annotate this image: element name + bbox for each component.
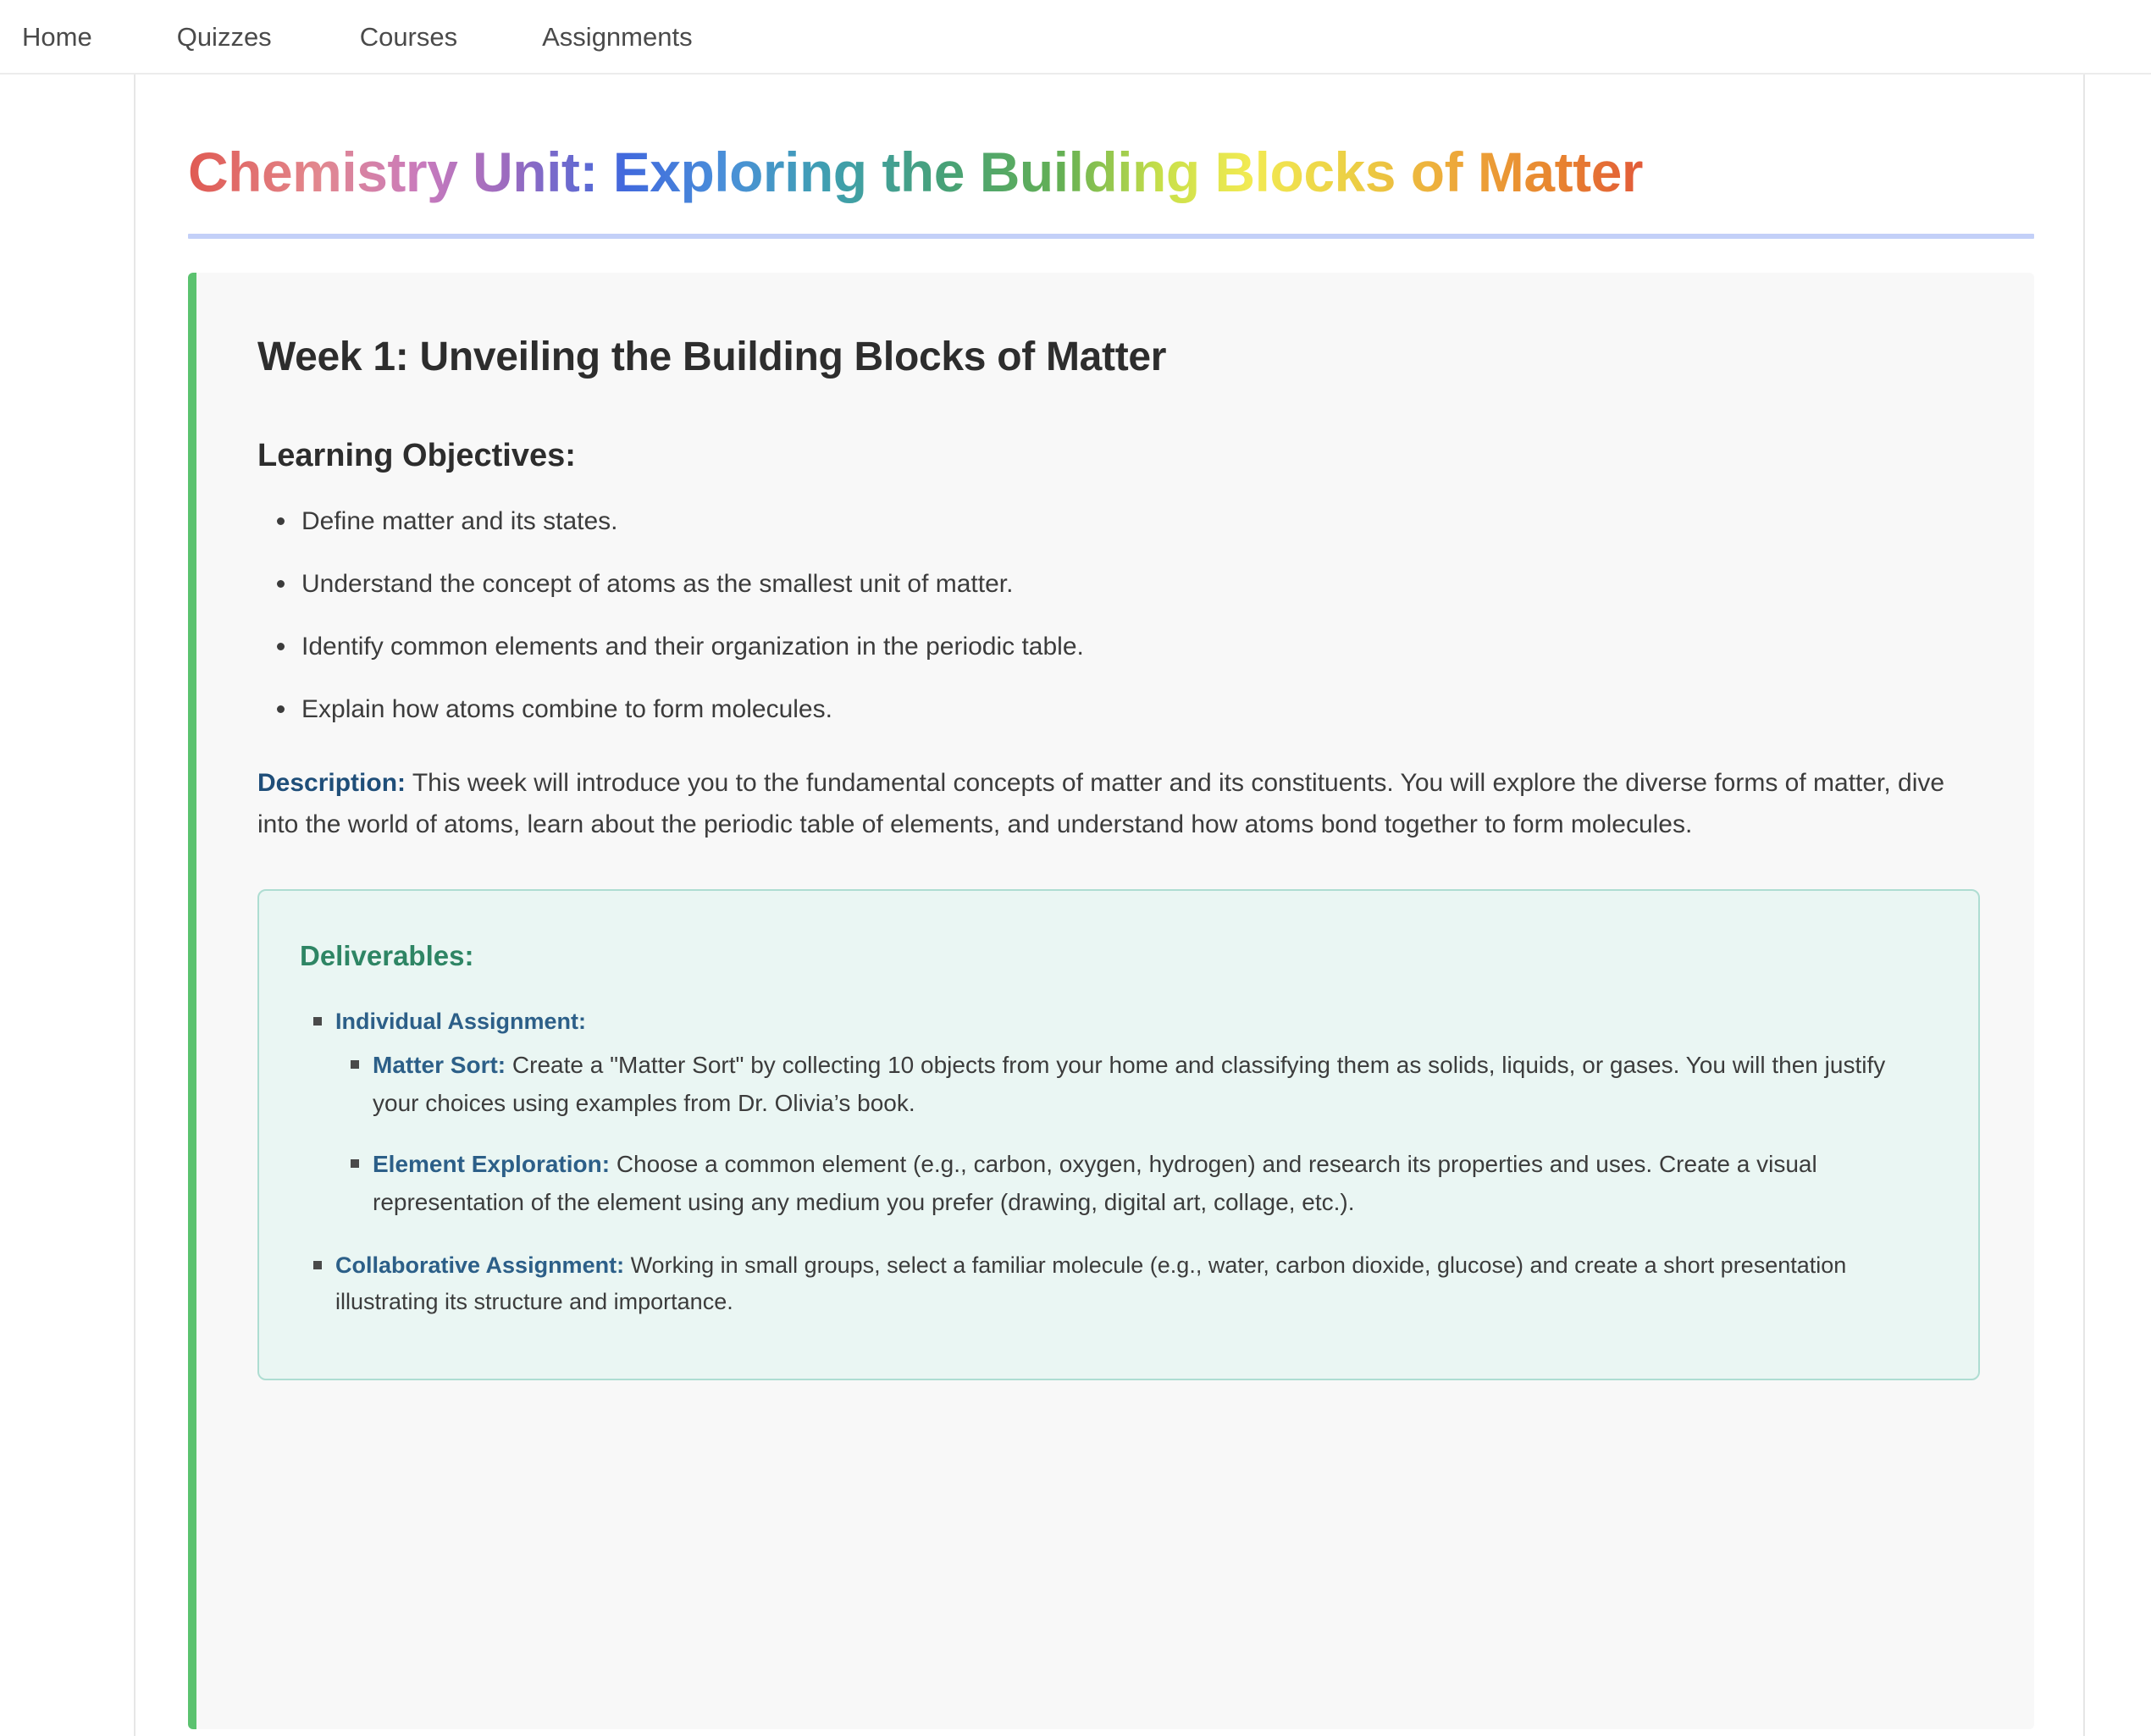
nav-item-home[interactable]: Home: [22, 24, 152, 50]
page-shell: Chemistry Unit: Exploring the Building B…: [0, 75, 2151, 1736]
list-item: Explain how atoms combine to form molecu…: [301, 690, 1980, 728]
description-paragraph: Description: This week will introduce yo…: [257, 763, 1980, 845]
list-item-individual-assignment: Individual Assignment: Matter Sort: Crea…: [335, 1003, 1938, 1221]
top-navigation-bar: Home Quizzes Courses Assignments: [0, 0, 2151, 75]
nav-item-assignments[interactable]: Assignments: [517, 24, 717, 50]
description-body: This week will introduce you to the fund…: [257, 769, 1944, 838]
main-content: Chemistry Unit: Exploring the Building B…: [135, 75, 2083, 1736]
list-item-collaborative-assignment: Collaborative Assignment: Working in sma…: [335, 1247, 1938, 1321]
matter-sort-text: Create a "Matter Sort" by collecting 10 …: [373, 1052, 1885, 1116]
deliverables-box: Deliverables: Individual Assignment: Mat…: [257, 889, 1980, 1380]
deliverables-list: Individual Assignment: Matter Sort: Crea…: [300, 1003, 1938, 1321]
nav-item-quizzes[interactable]: Quizzes: [152, 24, 335, 50]
week-card: Week 1: Unveiling the Building Blocks of…: [188, 273, 2034, 1729]
learning-objectives-list: Define matter and its states. Understand…: [257, 502, 1980, 728]
collaborative-assignment-label: Collaborative Assignment:: [335, 1252, 624, 1278]
list-item: Element Exploration: Choose a common ele…: [373, 1145, 1938, 1222]
matter-sort-label: Matter Sort:: [373, 1052, 506, 1078]
individual-assignment-sublist: Matter Sort: Create a "Matter Sort" by c…: [335, 1046, 1938, 1221]
page-title: Chemistry Unit: Exploring the Building B…: [188, 75, 1643, 205]
list-item: Identify common elements and their organ…: [301, 628, 1980, 666]
list-item: Matter Sort: Create a "Matter Sort" by c…: [373, 1046, 1938, 1123]
title-divider-rule: [188, 234, 2034, 239]
learning-objectives-heading: Learning Objectives:: [257, 435, 1980, 477]
element-exploration-label: Element Exploration:: [373, 1151, 610, 1177]
individual-assignment-label: Individual Assignment:: [335, 1009, 586, 1034]
left-gutter: [0, 75, 135, 1736]
list-item: Define matter and its states.: [301, 502, 1980, 540]
list-item: Understand the concept of atoms as the s…: [301, 565, 1980, 603]
description-label: Description:: [257, 769, 406, 797]
right-gutter: [2083, 75, 2151, 1736]
content-inner: Chemistry Unit: Exploring the Building B…: [135, 75, 2083, 1729]
week-heading: Week 1: Unveiling the Building Blocks of…: [257, 332, 1980, 383]
nav-item-courses[interactable]: Courses: [335, 24, 517, 50]
deliverables-heading: Deliverables:: [300, 938, 1938, 975]
